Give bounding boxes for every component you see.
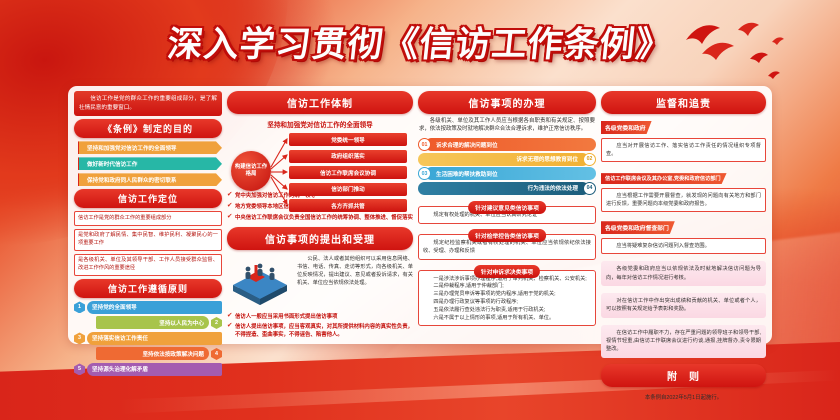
submission-checks: ✔ 信访人一般应当采用书面形式提出信访事项 ✔ 信访人提出信访事项，应当客观真实… — [227, 313, 413, 339]
diagram-hub: 构建信访工作格局 — [231, 151, 271, 191]
handling-heading: 信访事项的办理 — [418, 91, 596, 114]
handling-card-procedures: 针对申诉求决类事项 一是涉法涉诉事项办理程序,适用于审判机关、检察机关、公安机关… — [418, 270, 596, 327]
supervision-note: 对在信访工作中作出突出成绩和贡献的机关、单位或者个人，可以按照有关规定给予表彰和… — [601, 293, 766, 318]
check-icon: ✔ — [227, 192, 232, 199]
principle-heading: 信访工作遵循原则 — [74, 279, 222, 298]
check-icon: ✔ — [227, 313, 232, 320]
diagram-item: 信访部门推动 — [289, 183, 407, 196]
handling-card: 针对建议意见类信访事项 规定有权处理的机关、单位应当认真研究论证 — [418, 206, 596, 224]
column-handling: 信访事项的办理 各级机关、单位及其工作人员应当根据各自职责和有关规定、按照要求，… — [418, 91, 596, 339]
supervision-section: 各级党委和政府 应当对开展信访工作、落实信访工作责任的情况组织专项督查。 — [601, 117, 766, 162]
diagram-item: 信访工作联席会议协调 — [289, 166, 407, 179]
section-box: 应当根据工作需要开展督查，就发现的问题向有关地方和部门进行反馈，重要问题向本级党… — [601, 188, 766, 212]
step-row: 行为违法的依法处理 04 — [418, 182, 596, 195]
handling-intro: 各级机关、单位及其工作人员应当根据各自职责和有关规定、按照要求，依法按政策及时就… — [418, 117, 596, 134]
principle-number: 1 — [74, 301, 85, 313]
diagram-item: 政府组织落实 — [289, 150, 407, 163]
system-diagram: 构建信访工作格局 党委统一领导 政府组织落实 信访工作联席会议协调 信访部门推动… — [227, 133, 413, 189]
column-system: 信访工作体制 坚持和加强党对信访工作的全面领导 构建信访工作格局 党委统一领导 … — [227, 91, 413, 339]
check-row: ✔ 中央信访工作联席会议负责全国信访工作的统筹协调、整体推进、督促落实 — [227, 214, 413, 222]
supervision-note: 在信访工作中履职不力，存在严重问题的领导班子和领导干部,视情节轻重,由信访工作联… — [601, 325, 766, 358]
principle-number: 4 — [211, 348, 222, 360]
supervision-section: 信访工作联席会议及其办公室,党委和政府信访部门 应当根据工作需要开展督查，就发现… — [601, 167, 766, 212]
procedure-item: 六是不属于以上情形的事项,适用于所有机关、单位。 — [423, 315, 591, 323]
section-box: 应当将疑难复杂信访问题列入督查范围。 — [601, 238, 766, 254]
check-row: ✔ 信访人提出信访事项，应当客观真实，对其所提供材料内容的真实性负责，不得捏造、… — [227, 323, 413, 339]
card-tag: 针对建议意见类信访事项 — [468, 201, 546, 214]
submission-heading: 信访事项的提出和受理 — [227, 227, 413, 250]
system-heading: 信访工作体制 — [227, 91, 413, 114]
purpose-item: 保持党和政府同人民群众的密切联系 — [78, 173, 222, 186]
principle-row: 坚持依法按政策解决问题 4 — [74, 347, 222, 360]
principle-row: 3 坚持落实信访工作责任 — [74, 332, 222, 345]
card-tag: 针对申诉求决类事项 — [474, 265, 540, 278]
step-number: 04 — [583, 182, 596, 195]
check-row: ✔ 信访人一般应当采用书面形式提出信访事项 — [227, 313, 413, 321]
step-row: 诉求合理的解决问题到位 01 — [418, 138, 596, 151]
section-box: 应当对开展信访工作、落实信访工作责任的情况组织专项督查。 — [601, 138, 766, 162]
diagram-items: 党委统一领导 政府组织落实 信访工作联席会议协调 信访部门推动 各方齐抓共管 — [289, 133, 407, 212]
card-text: 规定纪检监察机关或者有权处理的机关、单位应当依规依纪依法接收、受理、办理和反馈 — [423, 240, 591, 256]
step-row: 诉求无理的思想教育到位 02 — [418, 153, 596, 166]
submission-row: 公民、法人或者其他组织可以采用信息网络、书信、电话、传真、走访等形式，向各级机关… — [227, 255, 413, 309]
supervision-heading: 监督和追责 — [601, 91, 766, 114]
principle-row: 5 坚持源头治理化解矛盾 — [74, 363, 222, 376]
principle-label: 坚持党的全面领导 — [87, 301, 222, 314]
principle-label: 坚持落实信访工作责任 — [87, 332, 222, 345]
section-label: 各级党委和政府 — [601, 121, 652, 134]
purpose-heading: 《条例》制定的目的 — [74, 119, 222, 138]
column-supervision: 监督和追责 各级党委和政府 应当对开展信访工作、落实信访工作责任的情况组织专项督… — [601, 91, 766, 339]
step-row: 生活困难的帮扶救助到位 03 — [418, 167, 596, 180]
section-text: 应当将疑难复杂信访问题列入督查范围。 — [602, 239, 765, 250]
section-label: 信访工作联席会议及其办公室,党委和政府信访部门 — [601, 173, 727, 184]
diagram-item: 党委统一领导 — [289, 133, 407, 146]
handling-card: 针对检举控告类信访事项 规定纪检监察机关或者有权处理的机关、单位应当依规依纪依法… — [418, 234, 596, 260]
content-board: 信访工作是党的群众工作的重要组成部分，是了解社情民意的重要窗口。 《条例》制定的… — [68, 86, 772, 344]
principle-number: 2 — [211, 317, 222, 329]
check-icon: ✔ — [227, 323, 232, 330]
section-text: 应当根据工作需要开展督查，就发现的问题向有关地方和部门进行反馈，重要问题向本级党… — [602, 189, 765, 208]
step-label: 诉求合理的解决问题到位 — [436, 141, 498, 149]
page-title: 深入学习贯彻《信访工作条例》 — [165, 16, 674, 67]
supervision-section: 各级党委和政府督查部门 应当将疑难复杂信访问题列入督查范围。 — [601, 217, 766, 254]
suggestion-box-icon — [227, 255, 293, 309]
check-icon: ✔ — [227, 203, 232, 210]
procedure-item: 四是办理行政复议等事项的行政程序; — [423, 299, 591, 307]
principle-row: 坚持以人民为中心 2 — [74, 316, 222, 329]
flying-birds-icon — [680, 14, 790, 84]
principle-row: 1 坚持党的全面领导 — [74, 301, 222, 314]
purpose-item-label: 保持党和政府同人民群众的密切联系 — [87, 178, 177, 184]
principle-list: 1 坚持党的全面领导 坚持以人民为中心 2 3 坚持落实信访工作责任 坚持依法按… — [74, 301, 222, 376]
appendix-heading: 附 则 — [601, 364, 766, 387]
card-tag: 针对检举控告类信访事项 — [468, 229, 546, 242]
check-label: 中央信访工作联席会议负责全国信访工作的统筹协调、整体推进、督促落实 — [235, 214, 413, 222]
system-subtitle: 坚持和加强党对信访工作的全面领导 — [227, 119, 413, 129]
handling-steps: 诉求合理的解决问题到位 01 诉求无理的思想教育到位 02 生活困难的帮扶救助到… — [418, 137, 596, 197]
step-label: 诉求无理的思想教育到位 — [516, 155, 578, 163]
position-heading: 信访工作定位 — [74, 189, 222, 208]
principle-label: 坚持源头治理化解矛盾 — [87, 363, 222, 376]
principle-number: 5 — [74, 363, 85, 375]
step-number: 02 — [583, 153, 596, 166]
check-label: 信访人提出信访事项，应当客观真实，对其所提供材料内容的真实性负责，不得捏造、歪曲… — [235, 323, 413, 339]
diagram-item: 各方齐抓共管 — [289, 199, 407, 212]
purpose-list: 坚持和加强党对信访工作的全面领导 做好新时代信访工作 保持党和政府同人民群众的密… — [74, 141, 222, 186]
purpose-item: 做好新时代信访工作 — [78, 157, 222, 170]
principle-number: 3 — [74, 332, 85, 344]
position-item: 是各级机关、单位及其领导干部、工作人员接受群众监督、改进工作作风的重要途径 — [74, 254, 222, 276]
position-item: 是党和政府了解民情、集中民智、维护民利、凝聚民心的一项重要工作 — [74, 229, 222, 251]
check-icon: ✔ — [227, 214, 232, 221]
check-label: 信访人一般应当采用书面形式提出信访事项 — [235, 313, 337, 321]
submission-text: 公民、法人或者其他组织可以采用信息网络、书信、电话、传真、走访等形式，向各级机关… — [297, 255, 413, 287]
supervision-note: 各级党委和政府应当以依规依法及时就地解决信访问题为导向，每年对信访工作情况进行考… — [601, 261, 766, 286]
step-label: 生活困难的帮扶救助到位 — [436, 170, 498, 178]
purpose-item: 坚持和加强党对信访工作的全面领导 — [78, 141, 222, 154]
lead-statement: 信访工作是党的群众工作的重要组成部分，是了解社情民意的重要窗口。 — [74, 91, 222, 116]
purpose-item-label: 坚持和加强党对信访工作的全面领导 — [87, 146, 177, 152]
section-label: 各级党委和政府督查部门 — [601, 221, 675, 234]
procedure-item: 三是办理党员申诉等事项的党内程序,适用于党的机关; — [423, 291, 591, 299]
position-item: 信访工作是党的群众工作的重要组成部分 — [74, 211, 222, 226]
section-text: 应当对开展信访工作、落实信访工作责任的情况组织专项督查。 — [602, 139, 765, 158]
principle-label: 坚持以人民为中心 — [96, 316, 209, 329]
principle-label: 坚持依法按政策解决问题 — [96, 347, 209, 360]
purpose-item-label: 做好新时代信访工作 — [87, 162, 137, 168]
procedure-item: 五是依法履行查处违法行为职责,适用于行政机关; — [423, 307, 591, 315]
column-overview: 信访工作是党的群众工作的重要组成部分，是了解社情民意的重要窗口。 《条例》制定的… — [74, 91, 222, 339]
step-label: 行为违法的依法处理 — [528, 184, 578, 192]
appendix-text: 本条例自2022年5月1日起施行。 — [601, 393, 766, 401]
